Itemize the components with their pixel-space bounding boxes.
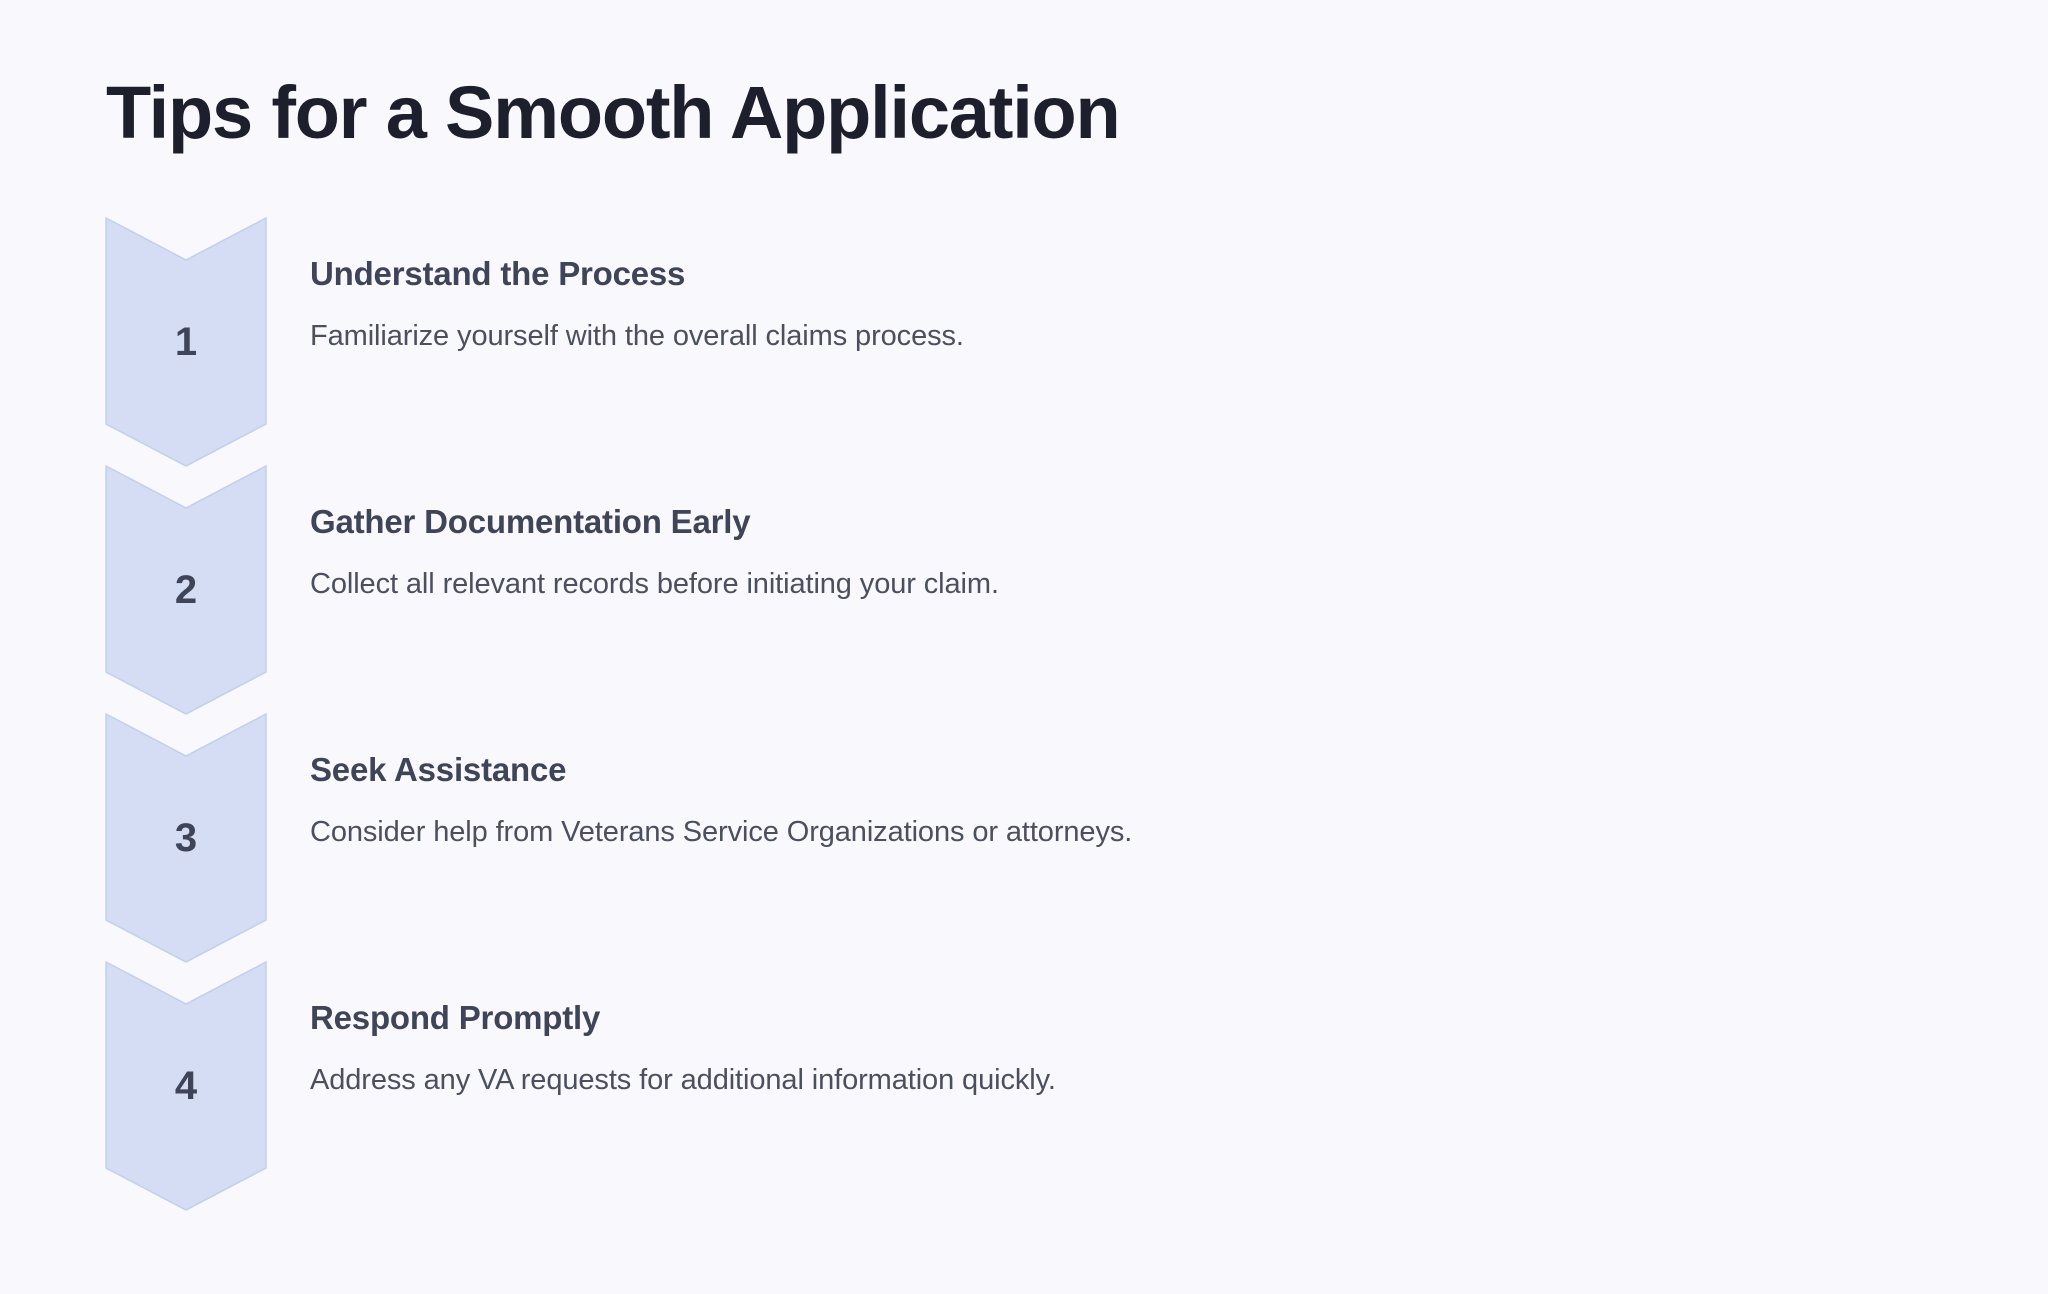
tips-infographic: Tips for a Smooth Application 1 Understa… <box>0 0 2048 1294</box>
step-heading: Respond Promptly <box>310 1000 1910 1036</box>
steps-list: 1 Understand the Process Familiarize you… <box>0 218 2048 1210</box>
page-title: Tips for a Smooth Application <box>106 76 1120 150</box>
chevron-down-icon <box>106 962 266 1210</box>
chevron-down-icon <box>106 466 266 714</box>
step-description: Address any VA requests for additional i… <box>310 1062 1910 1098</box>
chevron-down-icon <box>106 714 266 962</box>
step-text-block: Seek Assistance Consider help from Veter… <box>310 752 1910 851</box>
step-description: Consider help from Veterans Service Orga… <box>310 814 1910 850</box>
step-heading: Gather Documentation Early <box>310 504 1910 540</box>
step-heading: Seek Assistance <box>310 752 1910 788</box>
step-chevron-badge: 4 <box>106 962 266 1210</box>
step-chevron-badge: 1 <box>106 218 266 466</box>
list-item: 1 Understand the Process Familiarize you… <box>0 218 2048 466</box>
list-item: 2 Gather Documentation Early Collect all… <box>0 466 2048 714</box>
step-chevron-badge: 2 <box>106 466 266 714</box>
step-description: Collect all relevant records before init… <box>310 566 1910 602</box>
step-heading: Understand the Process <box>310 256 1910 292</box>
step-text-block: Understand the Process Familiarize yours… <box>310 256 1910 355</box>
step-text-block: Respond Promptly Address any VA requests… <box>310 1000 1910 1099</box>
list-item: 3 Seek Assistance Consider help from Vet… <box>0 714 2048 962</box>
list-item: 4 Respond Promptly Address any VA reques… <box>0 962 2048 1210</box>
step-chevron-badge: 3 <box>106 714 266 962</box>
chevron-down-icon <box>106 218 266 466</box>
step-description: Familiarize yourself with the overall cl… <box>310 318 1910 354</box>
step-text-block: Gather Documentation Early Collect all r… <box>310 504 1910 603</box>
